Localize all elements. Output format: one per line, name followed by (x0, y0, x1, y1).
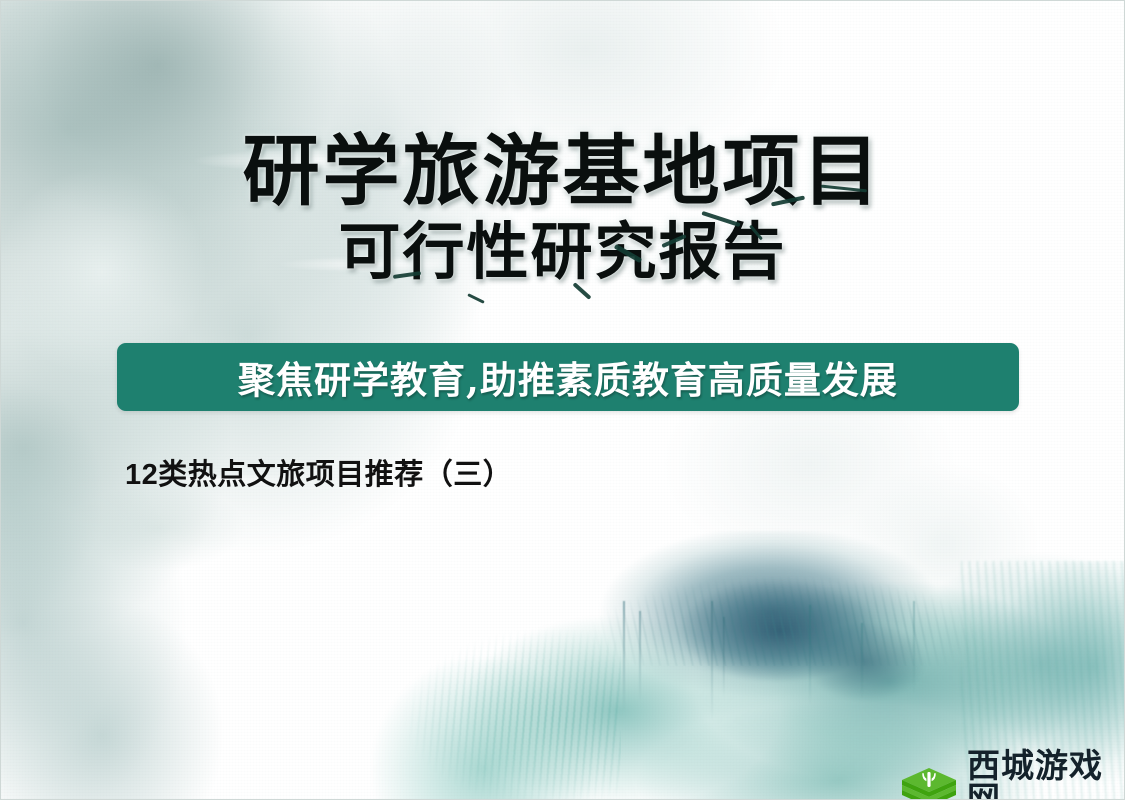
ink-fleck-icon (614, 244, 642, 263)
ink-splash-dark-core (621, 556, 951, 726)
page-subtitle: 可行性研究报告 (1, 218, 1124, 286)
series-kicker-text: 12类热点文旅项目推荐（三） (125, 451, 512, 493)
ink-fleck-icon (393, 271, 421, 279)
ink-fleck-icon (771, 196, 805, 207)
ink-fleck-icon (821, 185, 867, 193)
page-title: 研学旅游基地项目 (1, 133, 1124, 212)
ink-fleck-icon (701, 211, 740, 227)
watermark-site-name: 西城游戏网 (967, 749, 1125, 800)
watermark-text-group: 西城游戏网 XICHENGYOUXIWANG (967, 749, 1125, 800)
ink-fleck-icon (749, 225, 763, 241)
stacked-layers-wheat-icon (901, 767, 957, 800)
ink-fleck-icon (467, 293, 484, 304)
title-block: 研学旅游基地项目 可行性研究报告 (1, 133, 1124, 286)
ink-splash-top-fringe (561, 546, 1031, 666)
presentation-slide: 研学旅游基地项目 可行性研究报告 聚焦研学教育,助推素质教育高质量发展 12类热… (0, 0, 1125, 800)
tagline-text: 聚焦研学教育,助推素质教育高质量发展 (238, 350, 898, 404)
ink-fleck-icon (572, 282, 591, 300)
ink-splash-left-fringe (301, 611, 621, 800)
tagline-banner: 聚焦研学教育,助推素质教育高质量发展 (117, 343, 1019, 411)
site-watermark: 西城游戏网 XICHENGYOUXIWANG (901, 749, 1125, 800)
ink-fleck-icon (661, 234, 686, 248)
